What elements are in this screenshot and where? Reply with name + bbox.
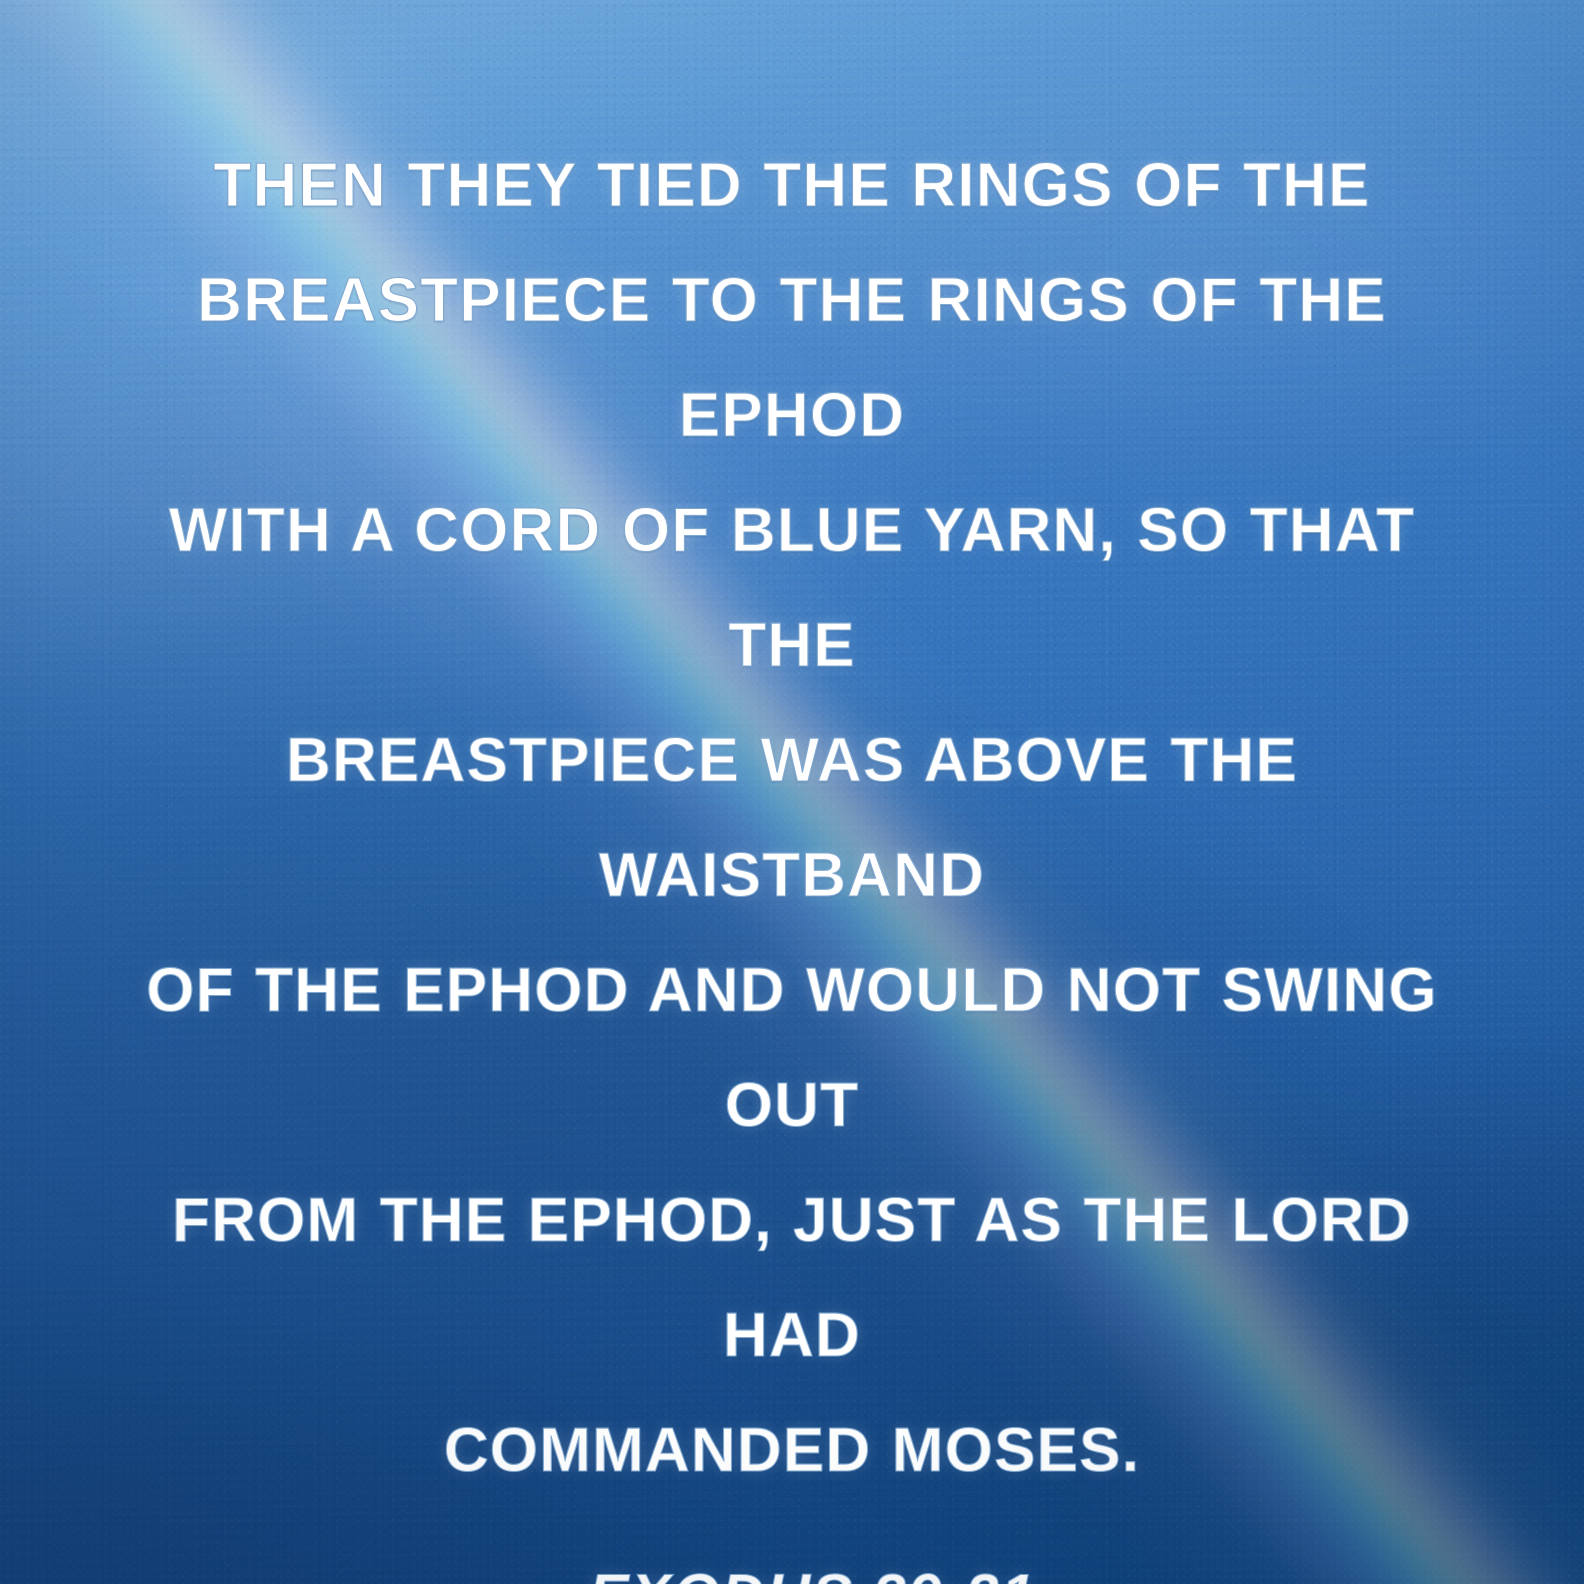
- verse-text-block: THEN THEY TIED THE RINGS OF THE BREASTPI…: [0, 0, 1584, 1584]
- verse-line: WITH A CORD OF BLUE YARN, SO THAT THE: [130, 473, 1454, 703]
- verse-line: COMMANDED MOSES.: [130, 1393, 1454, 1508]
- verse-reference: - EXODUS 39:21: [548, 1560, 1036, 1584]
- verse-line: FROM THE EPHOD, JUST AS THE LORD HAD: [130, 1163, 1454, 1393]
- verse-line: THEN THEY TIED THE RINGS OF THE: [130, 128, 1454, 243]
- verse-line: BREASTPIECE WAS ABOVE THE WAISTBAND: [130, 703, 1454, 933]
- verse-line: BREASTPIECE TO THE RINGS OF THE EPHOD: [130, 243, 1454, 473]
- verse-image-card: THEN THEY TIED THE RINGS OF THE BREASTPI…: [0, 0, 1584, 1584]
- verse-line: OF THE EPHOD AND WOULD NOT SWING OUT: [130, 933, 1454, 1163]
- verse-body: THEN THEY TIED THE RINGS OF THE BREASTPI…: [130, 128, 1454, 1508]
